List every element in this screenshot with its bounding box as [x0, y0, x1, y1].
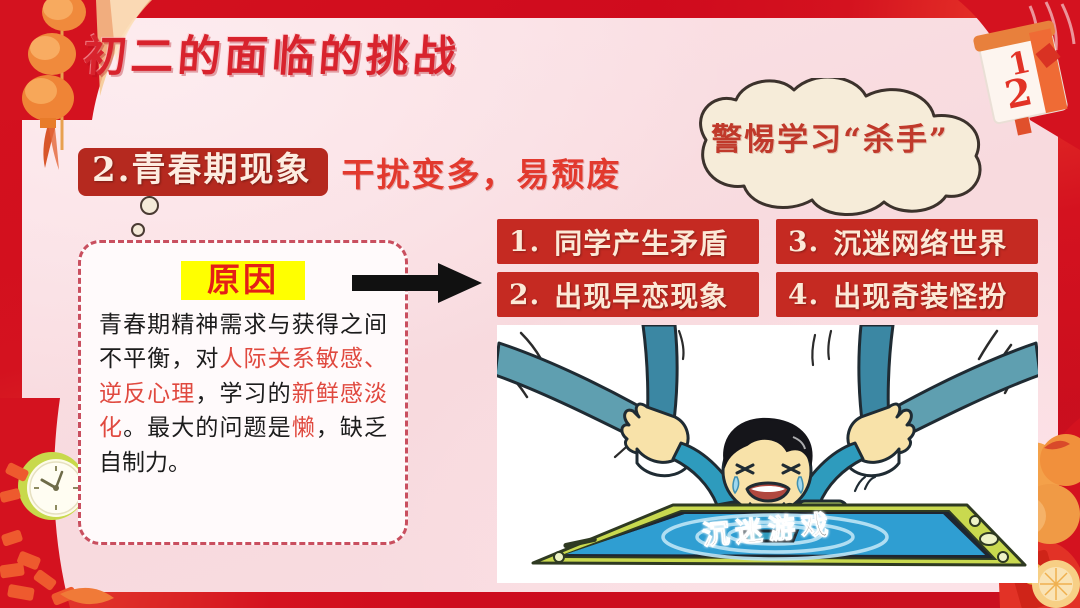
- section-heading-row: 2.青春期现象 干扰变多，易颓废: [78, 148, 622, 196]
- challenge-item-2[interactable]: 2. 出现早恋现象: [497, 272, 759, 317]
- thought-bubble-text: 警惕学习“杀手”: [680, 114, 980, 159]
- thought-bubble: 警惕学习“杀手”: [628, 78, 1028, 218]
- reason-title-badge: 原因: [181, 261, 305, 300]
- challenge-item-1[interactable]: 1. 同学产生矛盾: [497, 219, 759, 264]
- challenge-item-4-label: 出现奇装怪扮: [833, 275, 1007, 315]
- challenge-item-2-number: 2.: [509, 278, 540, 311]
- reason-text-3: 。最大的问题是: [123, 415, 292, 441]
- section-heading-subtitle: 干扰变多，易颓废: [342, 148, 622, 196]
- reason-highlight-3: 懒: [292, 415, 316, 441]
- section-heading-chip: 2.青春期现象: [78, 148, 328, 196]
- thought-bubble-dot-large: [140, 196, 159, 215]
- challenge-item-4-number: 4.: [788, 278, 819, 311]
- page-title: 初二的面临的挑战: [82, 22, 462, 84]
- challenge-item-3[interactable]: 3. 沉迷网络世界: [776, 219, 1038, 264]
- thought-bubble-dot-medium: [131, 223, 145, 237]
- reason-text-2: ，学习的: [195, 381, 291, 407]
- challenge-item-1-number: 1.: [509, 225, 540, 258]
- challenge-item-2-label: 出现早恋现象: [554, 275, 728, 315]
- slide-canvas: 1 2: [0, 0, 1080, 608]
- right-arrow-icon: [352, 262, 482, 304]
- challenge-item-1-label: 同学产生矛盾: [554, 222, 728, 262]
- challenge-item-3-number: 3.: [788, 225, 819, 258]
- cartoon-illustration: 沉迷游戏: [497, 325, 1038, 583]
- challenge-item-4[interactable]: 4. 出现奇装怪扮: [776, 272, 1038, 317]
- reason-body-text: 青春期精神需求与获得之间不平衡，对人际关系敏感、逆反心理，学习的新鲜感淡化。最大…: [99, 308, 387, 481]
- challenge-item-3-label: 沉迷网络世界: [833, 222, 1007, 262]
